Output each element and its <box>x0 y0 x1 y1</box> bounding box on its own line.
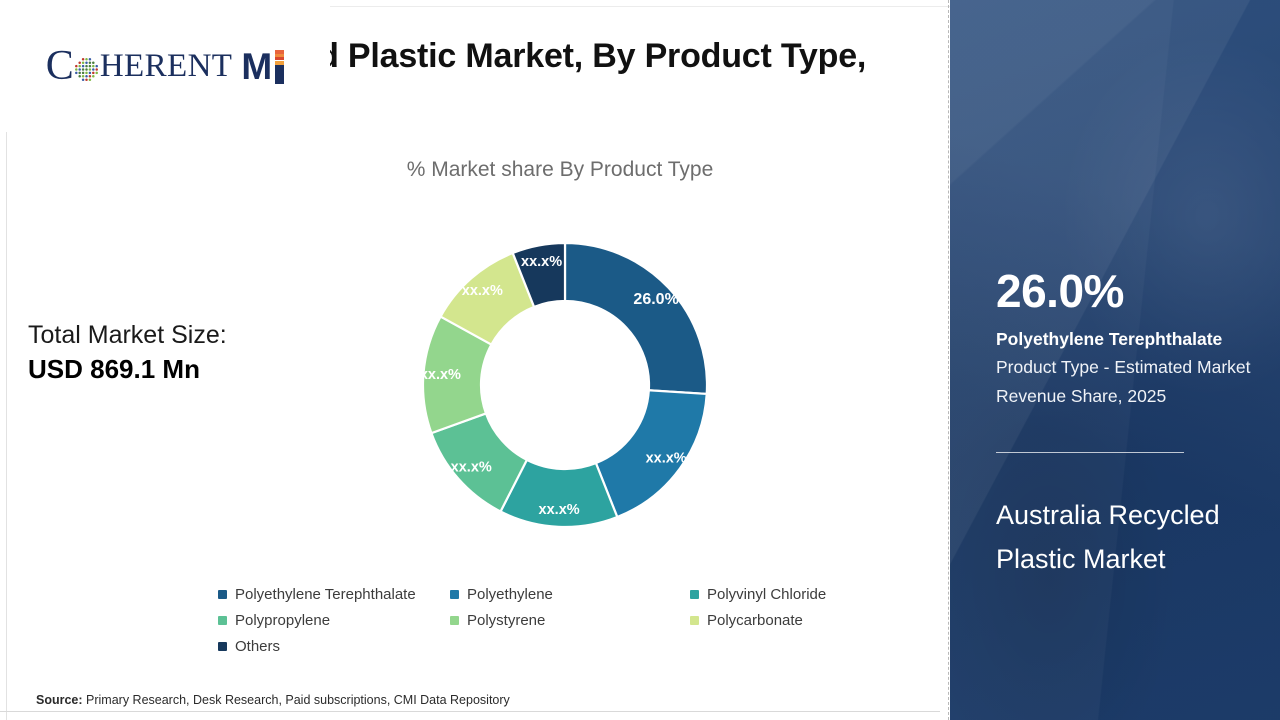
infographic-page: Australia Recycled Plastic Market, By Pr… <box>0 0 1280 720</box>
frame-border-bottom <box>0 711 940 712</box>
legend-item-polyethylene-terephthalate[interactable]: Polyethylene Terephthalate <box>218 586 450 603</box>
sidebar-percent: 26.0% <box>996 268 1266 314</box>
legend-row: Others <box>218 638 918 655</box>
legend-label: Polystyrene <box>467 612 545 629</box>
legend-swatch <box>690 590 699 599</box>
total-market-size-block: Total Market Size: USD 869.1 Mn <box>28 320 358 387</box>
legend-row: Polyethylene Terephthalate Polyethylene … <box>218 586 918 603</box>
logo-text-herent: HERENT <box>100 50 233 83</box>
legend-item-polyvinyl-chloride[interactable]: Polyvinyl Chloride <box>690 586 910 603</box>
legend-item-others[interactable]: Others <box>218 638 450 655</box>
donut-slice[interactable] <box>565 243 707 394</box>
striped-i-icon <box>275 50 284 84</box>
globe-icon-svg <box>74 57 99 82</box>
legend-swatch <box>218 590 227 599</box>
striped-i-icon-svg <box>275 50 284 84</box>
legend-item-polypropylene[interactable]: Polypropylene <box>218 612 450 629</box>
legend-label: Polyethylene Terephthalate <box>235 586 416 603</box>
legend-item-polycarbonate[interactable]: Polycarbonate <box>690 612 910 629</box>
legend-swatch <box>450 616 459 625</box>
legend-item-polyethylene[interactable]: Polyethylene <box>450 586 690 603</box>
legend-swatch <box>218 616 227 625</box>
legend-swatch <box>218 642 227 651</box>
donut-slice-label: xx.x% <box>521 254 562 270</box>
donut-slice-label: xx.x% <box>646 450 687 466</box>
logo-lockup: C HERENT M <box>46 45 284 87</box>
donut-chart-svg: 26.0%xx.x%xx.x%xx.x%xx.x%xx.x%xx.x% <box>400 215 730 555</box>
sidebar-description-bold: Polyethylene Terephthalate <box>996 329 1222 349</box>
sidebar-rule <box>996 452 1184 453</box>
legend-swatch <box>450 590 459 599</box>
sidebar-market-name: Australia Recycled Plastic Market <box>996 494 1266 581</box>
logo-letter-m: M <box>241 48 272 85</box>
donut-chart: 26.0%xx.x%xx.x%xx.x%xx.x%xx.x%xx.x% <box>400 215 730 555</box>
total-market-size-label: Total Market Size: <box>28 320 358 351</box>
logo-letter-c: C <box>46 45 74 87</box>
source-note: Source: Primary Research, Desk Research,… <box>36 693 510 707</box>
legend-label: Polyethylene <box>467 586 553 603</box>
donut-slice-label: xx.x% <box>420 367 461 383</box>
legend-swatch <box>690 616 699 625</box>
source-label: Source: <box>36 693 83 707</box>
source-text: Primary Research, Desk Research, Paid su… <box>83 693 510 707</box>
legend-label: Polycarbonate <box>707 612 803 629</box>
donut-slice-label: xx.x% <box>539 502 580 518</box>
chart-legend: Polyethylene Terephthalate Polyethylene … <box>218 586 918 664</box>
sidebar-description-rest: Product Type - Estimated Market Revenue … <box>996 357 1251 405</box>
legend-label: Others <box>235 638 280 655</box>
donut-slice-label: xx.x% <box>451 460 492 476</box>
globe-icon <box>74 57 99 82</box>
legend-row: Polypropylene Polystyrene Polycarbonate <box>218 612 918 629</box>
sidebar-description: Polyethylene Terephthalate Product Type … <box>996 325 1264 410</box>
legend-label: Polypropylene <box>235 612 330 629</box>
legend-item-polystyrene[interactable]: Polystyrene <box>450 612 690 629</box>
brand-logo[interactable]: C HERENT M <box>0 0 330 132</box>
total-market-size-value: USD 869.1 Mn <box>28 353 358 387</box>
donut-slice-label: 26.0% <box>633 291 678 308</box>
panel-divider <box>948 0 949 720</box>
donut-slice-label: xx.x% <box>462 283 503 299</box>
legend-label: Polyvinyl Chloride <box>707 586 826 603</box>
